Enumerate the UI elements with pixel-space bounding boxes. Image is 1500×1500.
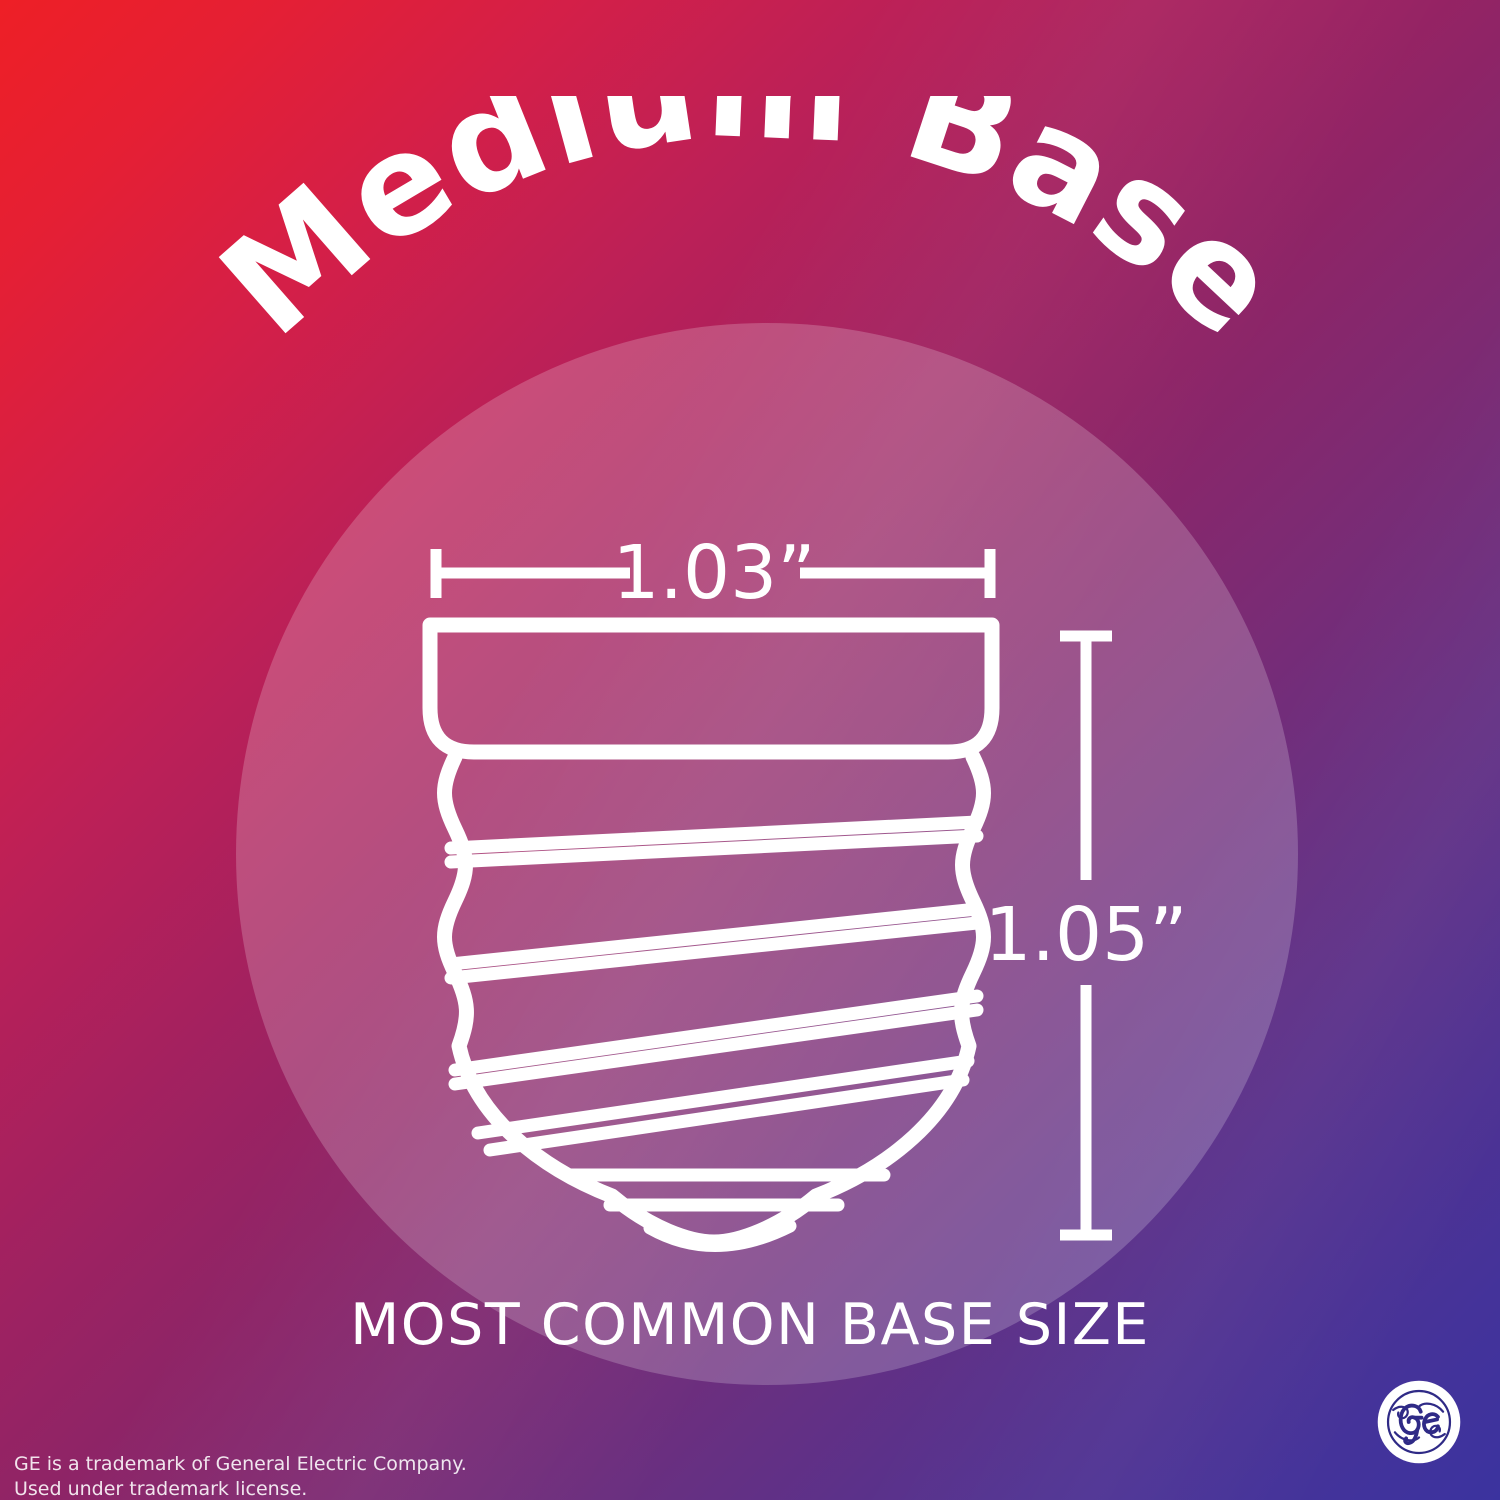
width-dimension: 1.03” <box>436 530 990 616</box>
base-collar <box>430 625 992 752</box>
legal-line-2: Used under trademark license. <box>14 1477 467 1500</box>
thread-line-3 <box>455 996 977 1070</box>
screw-base-drawing <box>430 625 992 1246</box>
base-illustration-group: 1.03” 1.05” <box>0 0 1500 1500</box>
infographic-canvas: Medium Base 1.03” 1.05” <box>0 0 1500 1500</box>
ge-monogram-icon <box>1376 1379 1462 1465</box>
height-dimension-label: 1.05” <box>984 892 1187 978</box>
height-dimension: 1.05” <box>984 636 1187 1235</box>
width-dimension-label: 1.03” <box>612 530 815 616</box>
legal-line-1: GE is a trademark of General Electric Co… <box>14 1452 467 1477</box>
caption-text: MOST COMMON BASE SIZE <box>0 1292 1500 1358</box>
legal-notice: GE is a trademark of General Electric Co… <box>14 1452 467 1500</box>
